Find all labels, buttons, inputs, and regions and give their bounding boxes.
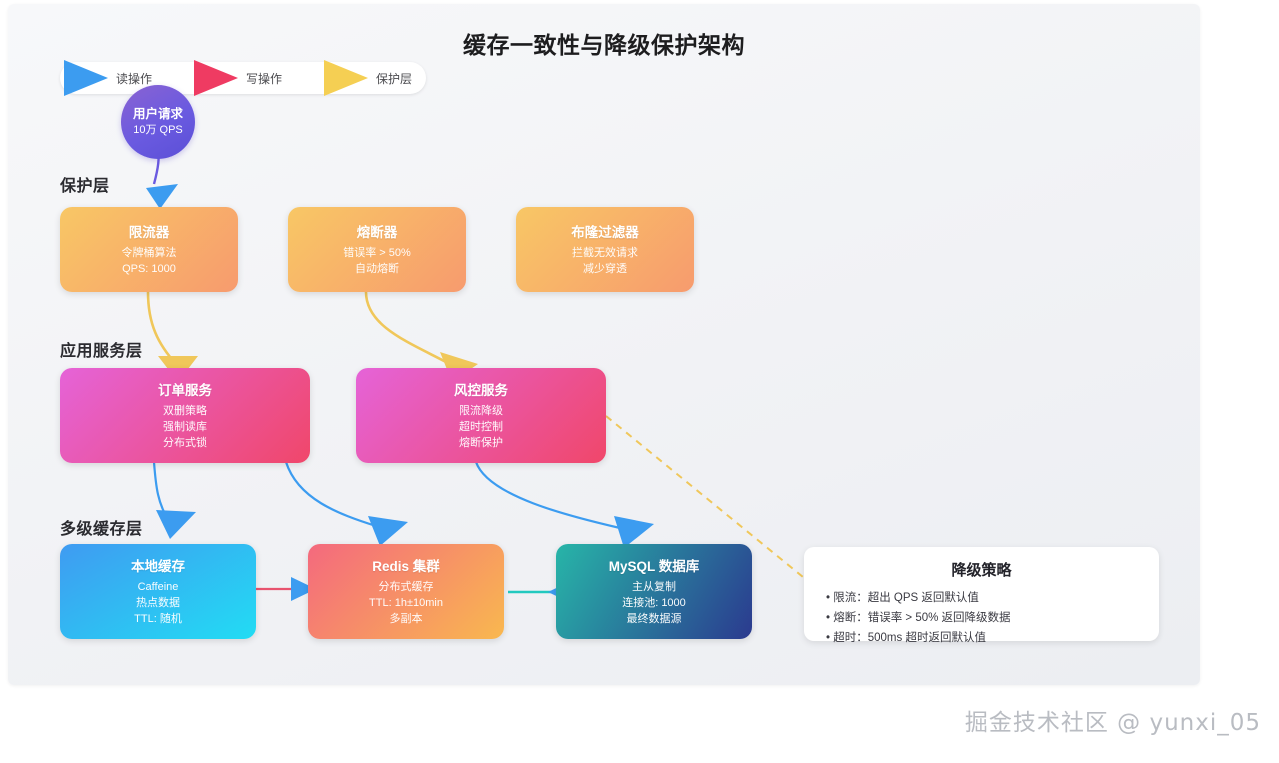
arrowhead-order-to-local — [156, 510, 196, 539]
arrow-right-icon — [324, 60, 368, 96]
node-bloom-filter-line-1: 拦截无效请求 — [572, 246, 638, 262]
degrade-strategy-panel: 降级策略 限流：超出 QPS 返回默认值 熔断：错误率 > 50% 返回降级数据… — [804, 547, 1159, 641]
node-redis-cluster: Redis 集群 分布式缓存 TTL: 1h±10min 多副本 — [308, 544, 504, 639]
node-mysql-database-title: MySQL 数据库 — [609, 555, 700, 575]
arrow-right-icon — [64, 60, 108, 96]
node-order-service-line-1: 双删策略 — [163, 404, 207, 420]
arrow-right-icon — [194, 60, 238, 96]
degrade-strategy-item-1: 限流：超出 QPS 返回默认值 — [820, 588, 1143, 608]
node-bloom-filter-line-2: 减少穿透 — [583, 262, 627, 278]
node-mysql-database: MySQL 数据库 主从复制 连接池: 1000 最终数据源 — [556, 544, 752, 639]
node-rate-limiter: 限流器 令牌桶算法 QPS: 1000 — [60, 207, 238, 292]
node-order-service: 订单服务 双删策略 强制读库 分布式锁 — [60, 368, 310, 463]
diagram-canvas: 缓存一致性与降级保护架构 读操作 写操作 保护层 用户请求 10万 QPS 保护… — [8, 4, 1200, 685]
node-redis-cluster-line-3: 多副本 — [390, 612, 423, 628]
connector-limiter-to-order — [148, 292, 176, 364]
node-risk-service-title: 风控服务 — [454, 379, 508, 399]
node-circuit-breaker-title: 熔断器 — [357, 221, 398, 241]
arrowhead-entry-to-limiter — [146, 184, 178, 209]
node-user-request-subtitle: 10万 QPS — [133, 123, 183, 137]
node-redis-cluster-line-1: 分布式缓存 — [379, 580, 434, 596]
degrade-strategy-item-3: 超时：500ms 超时返回默认值 — [820, 628, 1143, 648]
node-risk-service-line-3: 熔断保护 — [459, 436, 503, 452]
node-risk-service-line-1: 限流降级 — [459, 404, 503, 420]
legend: 读操作 写操作 保护层 — [60, 62, 426, 94]
screenshot-root: 缓存一致性与降级保护架构 读操作 写操作 保护层 用户请求 10万 QPS 保护… — [0, 0, 1279, 763]
node-local-cache-title: 本地缓存 — [131, 555, 185, 575]
node-mysql-database-line-3: 最终数据源 — [627, 612, 682, 628]
section-label-application: 应用服务层 — [60, 337, 143, 361]
degrade-strategy-title: 降级策略 — [820, 559, 1143, 580]
connector-order-to-redis — [286, 462, 376, 526]
node-rate-limiter-line-1: 令牌桶算法 — [122, 246, 177, 262]
node-circuit-breaker-line-1: 错误率 > 50% — [343, 246, 411, 262]
legend-label-read: 读操作 — [116, 70, 152, 87]
node-user-request-title: 用户请求 — [133, 107, 183, 123]
arrowhead-order-to-redis — [368, 516, 408, 546]
node-mysql-database-line-2: 连接池: 1000 — [622, 596, 686, 612]
degrade-strategy-item-2: 熔断：错误率 > 50% 返回降级数据 — [820, 608, 1143, 628]
node-risk-service-line-2: 超时控制 — [459, 420, 503, 436]
node-redis-cluster-title: Redis 集群 — [372, 555, 440, 575]
legend-label-write: 写操作 — [246, 70, 282, 87]
node-user-request: 用户请求 10万 QPS — [121, 85, 195, 159]
node-rate-limiter-title: 限流器 — [129, 221, 170, 241]
node-mysql-database-line-1: 主从复制 — [632, 580, 676, 596]
node-local-cache-line-2: 热点数据 — [136, 596, 180, 612]
node-redis-cluster-line-2: TTL: 1h±10min — [369, 596, 443, 612]
legend-item-write: 写操作 — [194, 60, 282, 96]
section-label-cache: 多级缓存层 — [60, 515, 143, 539]
watermark: 掘金技术社区 @ yunxi_05 — [965, 703, 1261, 737]
node-circuit-breaker-line-2: 自动熔断 — [355, 262, 399, 278]
legend-label-protection: 保护层 — [376, 70, 412, 87]
node-order-service-line-3: 分布式锁 — [163, 436, 207, 452]
node-circuit-breaker: 熔断器 错误率 > 50% 自动熔断 — [288, 207, 466, 292]
node-local-cache-line-1: Caffeine — [138, 580, 179, 596]
connector-order-to-local — [154, 462, 168, 520]
node-bloom-filter: 布隆过滤器 拦截无效请求 减少穿透 — [516, 207, 694, 292]
node-local-cache-line-3: TTL: 随机 — [134, 612, 182, 628]
node-rate-limiter-line-2: QPS: 1000 — [122, 262, 176, 278]
node-order-service-line-2: 强制读库 — [163, 420, 207, 436]
legend-item-protection: 保护层 — [324, 60, 412, 96]
section-label-protection: 保护层 — [60, 172, 110, 196]
node-order-service-title: 订单服务 — [158, 379, 212, 399]
node-bloom-filter-title: 布隆过滤器 — [571, 221, 639, 241]
page-title: 缓存一致性与降级保护架构 — [8, 26, 1200, 60]
node-risk-service: 风控服务 限流降级 超时控制 熔断保护 — [356, 368, 606, 463]
connector-risk-to-mysql — [476, 462, 620, 528]
node-local-cache: 本地缓存 Caffeine 热点数据 TTL: 随机 — [60, 544, 256, 639]
connector-breaker-to-risk — [366, 292, 446, 362]
